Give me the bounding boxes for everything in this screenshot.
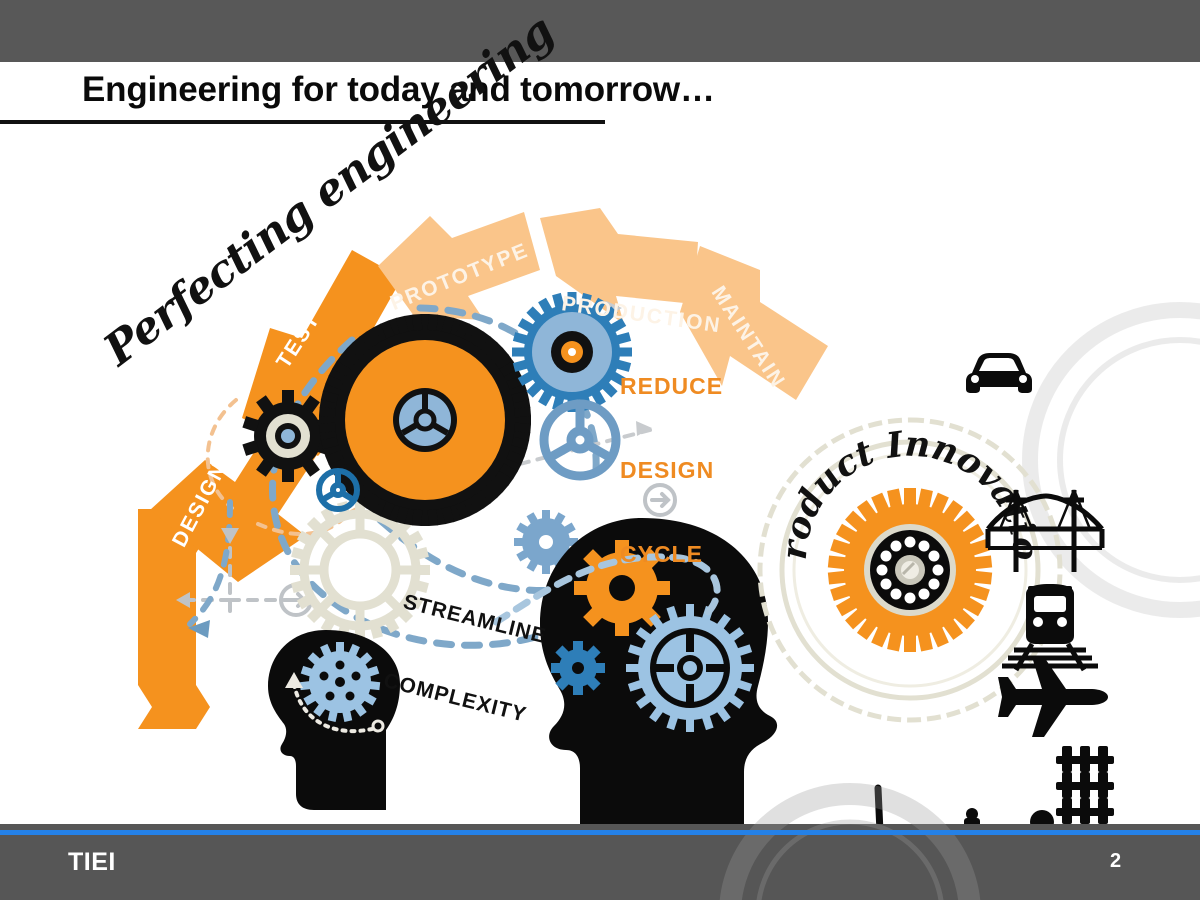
title-underline: [0, 120, 605, 124]
banner-maintain: [680, 246, 828, 400]
gear-blue-medium: [512, 292, 632, 412]
circled-arrow-2: [645, 485, 675, 515]
banner-prototype: [378, 212, 540, 320]
slide: Engineering for today and tomorrow…: [0, 0, 1200, 900]
train-icon: [1002, 584, 1098, 670]
page-number: 2: [1110, 850, 1121, 873]
watermark-seal-right: [1030, 310, 1200, 610]
gear-badge-orange: [828, 488, 992, 652]
head-small-left: [268, 630, 400, 810]
footer-brand-label: TIEI: [68, 848, 116, 877]
page-title: Engineering for today and tomorrow…: [82, 70, 715, 110]
top-bar: [0, 0, 1200, 62]
footer-accent-line: [0, 830, 1200, 835]
infographic-artwork: Product Innovation: [0, 130, 1200, 830]
textile-icon: [1056, 746, 1114, 824]
gear-wheel-blue-1: [544, 404, 616, 476]
gear-main-orange: [319, 314, 531, 526]
car-icon: [966, 353, 1032, 393]
footer-bar: [0, 824, 1200, 900]
